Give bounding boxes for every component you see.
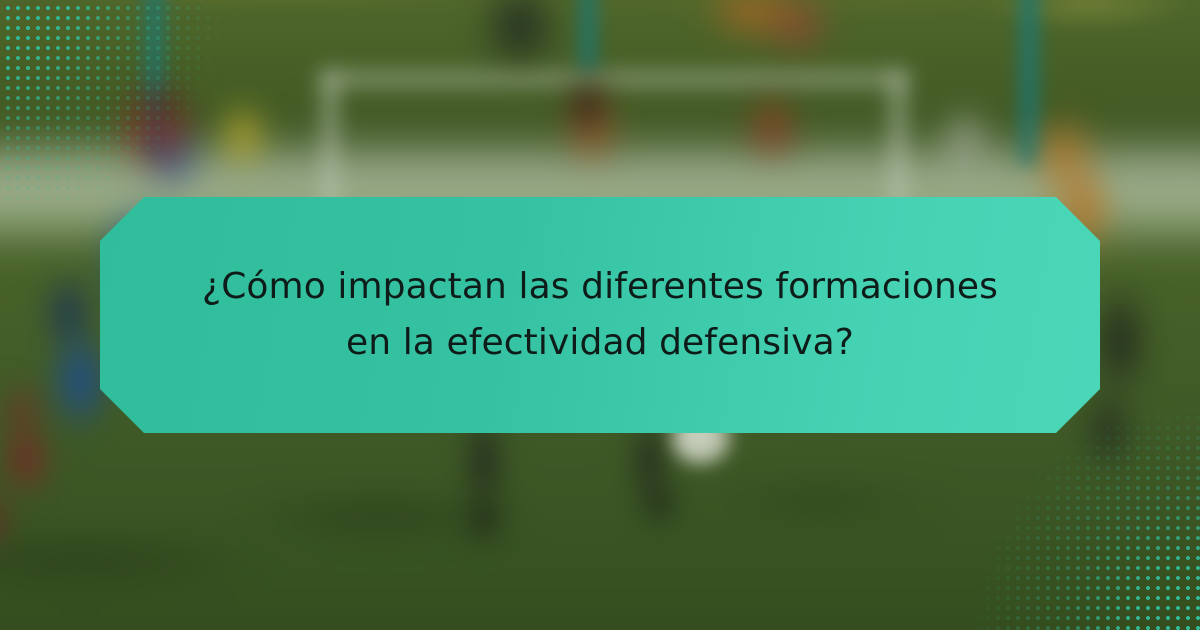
headline-card: ¿Cómo impactan las diferentes formacione… — [100, 197, 1100, 433]
social-card-canvas: ¿Cómo impactan las diferentes formacione… — [0, 0, 1200, 630]
page-title: ¿Cómo impactan las diferentes formacione… — [190, 259, 1010, 371]
